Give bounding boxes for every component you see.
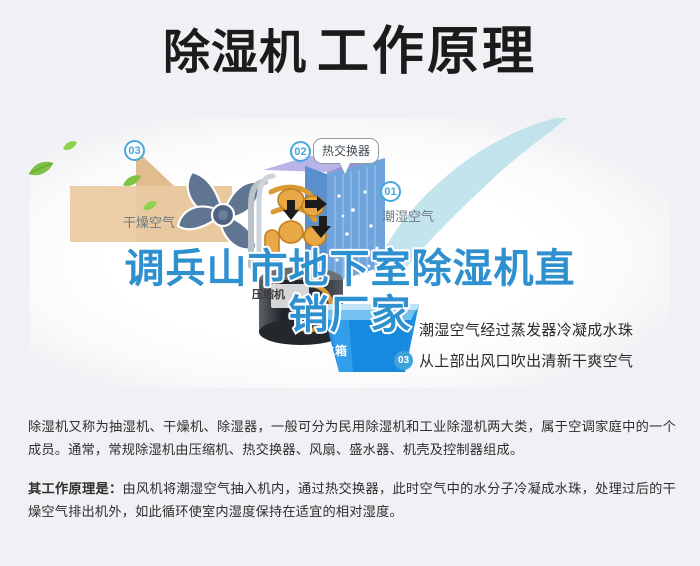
leaf-icon <box>28 160 54 178</box>
dry-air-label: 干燥空气 <box>123 212 175 231</box>
page-title-part1: 除湿机 <box>163 26 307 79</box>
caption-text: 潮湿空气经过蒸发器冷凝成水珠 <box>419 319 633 340</box>
body-paragraph-1: 除湿机又称为抽湿机、干燥机、除湿器，一般可分为民用除湿机和工业除湿机两大类，属于… <box>28 415 676 461</box>
page-title-part2: 工作原理 <box>317 23 537 81</box>
caption-item: 03 从上部出风口吹出清新干爽空气 <box>394 350 633 371</box>
body-paragraph-2-lead: 其工作原理是： <box>28 481 123 496</box>
diagram-badge-03: 03 <box>124 140 145 161</box>
heat-exchanger-label: 热交换器 <box>322 144 370 158</box>
page-title: 除湿机工作原理 <box>0 26 700 78</box>
humid-air-label: 潮湿空气 <box>382 206 434 225</box>
diagram-badge-01: 01 <box>380 181 401 202</box>
caption-text: 从上部出风口吹出清新干爽空气 <box>419 350 633 371</box>
infographic-page: 除湿机工作原理 <box>0 0 700 566</box>
body-paragraph-2: 其工作原理是：由风机将潮湿空气抽入机内，通过热交换器，此时空气中的水分子冷凝成水… <box>28 477 676 523</box>
leaf-icon <box>142 200 158 212</box>
leaf-icon <box>62 140 78 152</box>
water-tank-label: 水箱 <box>323 342 347 359</box>
heat-exchanger-callout: 热交换器 <box>313 138 379 164</box>
caption-badge: 03 <box>394 351 413 370</box>
body-paragraph-2-rest: 由风机将潮湿空气抽入机内，通过热交换器，此时空气中的水分子冷凝成水珠，处理过后的… <box>28 481 676 519</box>
caption-item: 02 潮湿空气经过蒸发器冷凝成水珠 <box>394 319 633 340</box>
body-copy: 除湿机又称为抽湿机、干燥机、除湿器，一般可分为民用除湿机和工业除湿机两大类，属于… <box>28 415 676 523</box>
leaf-icon <box>122 174 142 188</box>
diagram-badge-02: 02 <box>290 141 311 162</box>
compressor-label: 压缩机 <box>252 286 285 302</box>
